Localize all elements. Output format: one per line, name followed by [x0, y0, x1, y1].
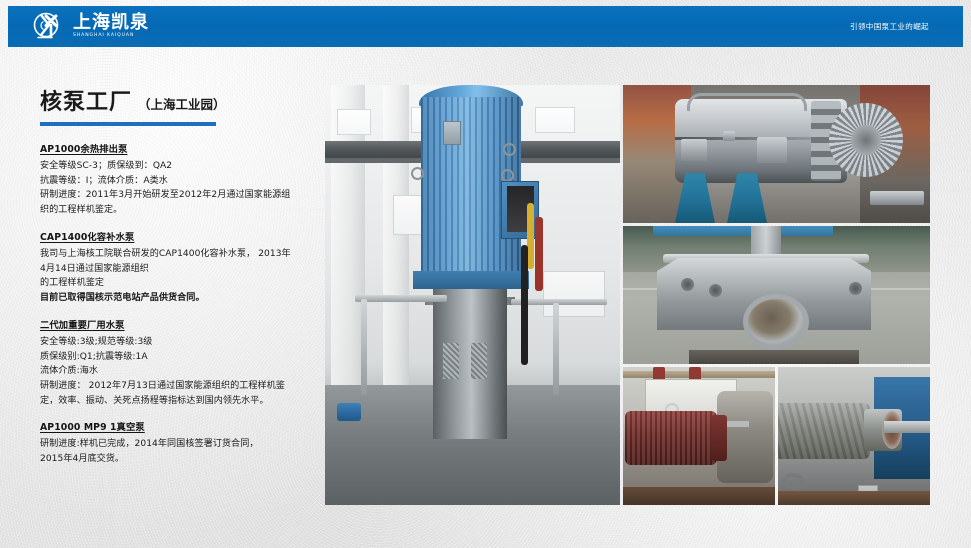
section-line: 安全等级:3级;规范等级:3级	[40, 335, 318, 350]
page-subtitle: （上海工业园）	[138, 94, 226, 113]
text-section: 二代加重要厂用水泵安全等级:3级;规范等级:3级质保级别:Q1;抗震等级:1A流…	[40, 319, 318, 409]
text-section: AP1000余热排出泵安全等级SC-3；质保级到：QA2抗震等级：Ⅰ；流体介质：…	[40, 143, 318, 218]
text-section: AP1000 MP9 1真空泵研制进度:样机已完成，2014年同国核签署订货合同…	[40, 421, 318, 466]
left-text-column: 核泵工厂 （上海工业园） AP1000余热排出泵安全等级SC-3；质保级到：QA…	[40, 84, 318, 467]
text-section: CAP1400化容补水泵我司与上海核工院联合研发的CAP1400化容补水泵， 2…	[40, 231, 318, 306]
section-line: 研制进度:样机已完成，2014年同国核签署订货合同，	[40, 437, 318, 452]
section-line: 质保级别:Q1;抗震等级:1A	[40, 350, 318, 365]
header-tagline: 引领中国泵工业的崛起	[850, 21, 929, 32]
photo-gallery	[325, 85, 930, 505]
photo-cast-pump-casing[interactable]	[623, 226, 930, 364]
logo-text: 上海凯泉 SHANGHAI KAIQUAN	[73, 14, 149, 39]
section-line: 研制进度： 2012年7月13日通过国家能源组织的工程样机鉴	[40, 379, 318, 394]
section-line: 研制进度：2011年3月开始研发至2012年2月通过国家能源组	[40, 188, 318, 203]
bottom-photo-pair	[623, 367, 930, 505]
section-line: 目前已取得国核示范电站产品供货合同。	[40, 291, 318, 306]
photo-vertical-blue-pump-motor[interactable]	[325, 85, 620, 505]
section-line: 织的工程样机鉴定。	[40, 203, 318, 218]
section-line: 4月14日通过国家能源组织	[40, 262, 318, 277]
section-line: 2015年4月底交货。	[40, 452, 318, 467]
slide-header-bar: 上海凯泉 SHANGHAI KAIQUAN 引领中国泵工业的崛起	[8, 6, 963, 47]
logo-chinese-name: 上海凯泉	[73, 14, 149, 32]
section-heading: 二代加重要厂用水泵	[40, 319, 318, 332]
right-photo-column	[623, 85, 930, 505]
section-line: 抗震等级：Ⅰ；流体介质：A类水	[40, 174, 318, 189]
section-heading: AP1000余热排出泵	[40, 143, 318, 156]
section-heading: AP1000 MP9 1真空泵	[40, 421, 318, 434]
company-logo: 上海凯泉 SHANGHAI KAIQUAN	[32, 12, 149, 42]
section-line: 安全等级SC-3；质保级到：QA2	[40, 159, 318, 174]
presentation-slide: 上海凯泉 SHANGHAI KAIQUAN 引领中国泵工业的崛起 核泵工厂 （上…	[0, 0, 971, 548]
section-line: 我司与上海核工院联合研发的CAP1400化容补水泵， 2013年	[40, 247, 318, 262]
section-heading: CAP1400化容补水泵	[40, 231, 318, 244]
photo-maroon-motor-test-rig[interactable]	[623, 367, 775, 505]
page-title: 核泵工厂	[40, 84, 132, 116]
kaiquan-logo-mark-icon	[32, 12, 66, 42]
photo-pump-shaft-coupling[interactable]	[778, 367, 930, 505]
section-line: 定，效率、振动、关死点扬程等指标达到国内领先水平。	[40, 394, 318, 409]
section-line: 的工程样机鉴定	[40, 276, 318, 291]
photo-stainless-pump-casing[interactable]	[623, 85, 930, 223]
page-title-row: 核泵工厂 （上海工业园）	[40, 84, 318, 116]
sections-list: AP1000余热排出泵安全等级SC-3；质保级到：QA2抗震等级：Ⅰ；流体介质：…	[40, 143, 318, 467]
section-line: 流体介质:海水	[40, 364, 318, 379]
title-underline	[40, 122, 216, 126]
logo-english-name: SHANGHAI KAIQUAN	[73, 34, 149, 38]
